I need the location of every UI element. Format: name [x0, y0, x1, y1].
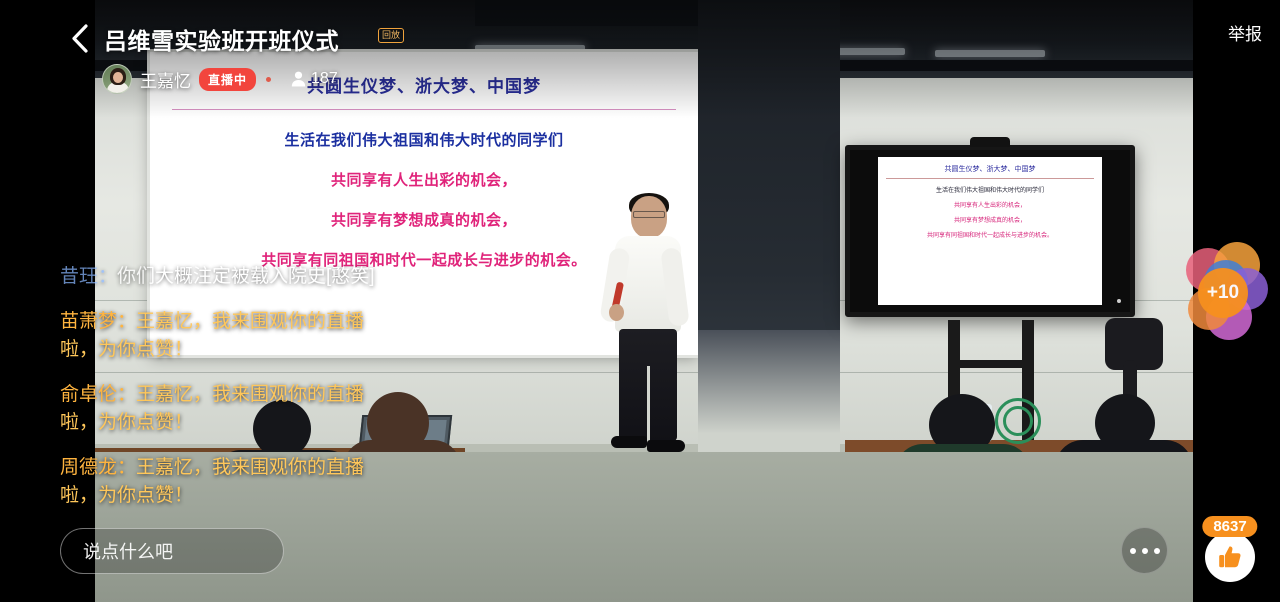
- avatar[interactable]: [102, 64, 132, 94]
- list-item: 昔玨：你们大概注定被载入院史[憨笑]: [60, 263, 400, 291]
- streamer-info[interactable]: 王嘉忆 直播中 187: [102, 64, 338, 94]
- status-badge: 直播中: [199, 68, 256, 91]
- like-icon-circle: [1205, 532, 1255, 582]
- list-item: 俞卓伦：王嘉忆，我来围观你的直播啦，为你点赞！: [60, 381, 400, 437]
- back-button[interactable]: [62, 20, 96, 56]
- viewer-count-value: 187: [311, 70, 338, 88]
- more-dots-icon: [1154, 548, 1160, 554]
- overlay-ui: 吕维雪实验班开班仪式 回放 王嘉忆 直播中 187 举报: [0, 0, 1280, 602]
- more-dots-icon: [1130, 548, 1136, 554]
- chat-message-sep: ：: [117, 311, 136, 332]
- chat-message-list[interactable]: 昔玨：你们大概注定被载入院史[憨笑] 苗萧梦：王嘉忆，我来围观你的直播啦，为你点…: [60, 263, 400, 510]
- person-icon: [291, 71, 306, 87]
- list-item: 周德龙：王嘉忆，我来围观你的直播啦，为你点赞！: [60, 454, 400, 510]
- like-count: 8637: [1202, 516, 1257, 537]
- chat-message-sep: ：: [117, 384, 136, 405]
- chat-message-text: 你们大概注定被载入院史[憨笑]: [117, 266, 375, 287]
- more-dots-icon: [1142, 548, 1148, 554]
- separator-dot: [266, 77, 271, 82]
- chat-message-name: 周德龙: [60, 457, 117, 478]
- chevron-left-icon: [71, 24, 88, 53]
- like-button[interactable]: 8637: [1200, 516, 1260, 580]
- page-title: 吕维雪实验班开班仪式: [104, 22, 339, 56]
- chat-input[interactable]: 说点什么吧: [60, 528, 284, 574]
- like-animation: +10: [1184, 242, 1264, 334]
- viewer-count: 187: [291, 70, 338, 88]
- title-badge: 回放: [378, 28, 404, 43]
- chat-message-name: 俞卓伦: [60, 384, 117, 405]
- list-item: 苗萧梦：王嘉忆，我来围观你的直播啦，为你点赞！: [60, 308, 400, 364]
- live-stream-screen: 共圆生仪梦、浙大梦、中国梦 生活在我们伟大祖国和伟大时代的同学们 共同享有人生出…: [0, 0, 1280, 602]
- more-options-button[interactable]: [1121, 527, 1168, 574]
- report-button[interactable]: 举报: [1228, 20, 1262, 45]
- streamer-name: 王嘉忆: [140, 67, 191, 92]
- chat-message-sep: ：: [98, 266, 117, 287]
- chat-message-name: 苗萧梦: [60, 311, 117, 332]
- top-gradient: [0, 0, 1280, 118]
- chat-message-sep: ：: [117, 457, 136, 478]
- like-float-count: +10: [1198, 268, 1248, 318]
- thumbs-up-icon: [1216, 543, 1244, 571]
- chat-message-name: 昔玨: [60, 266, 98, 287]
